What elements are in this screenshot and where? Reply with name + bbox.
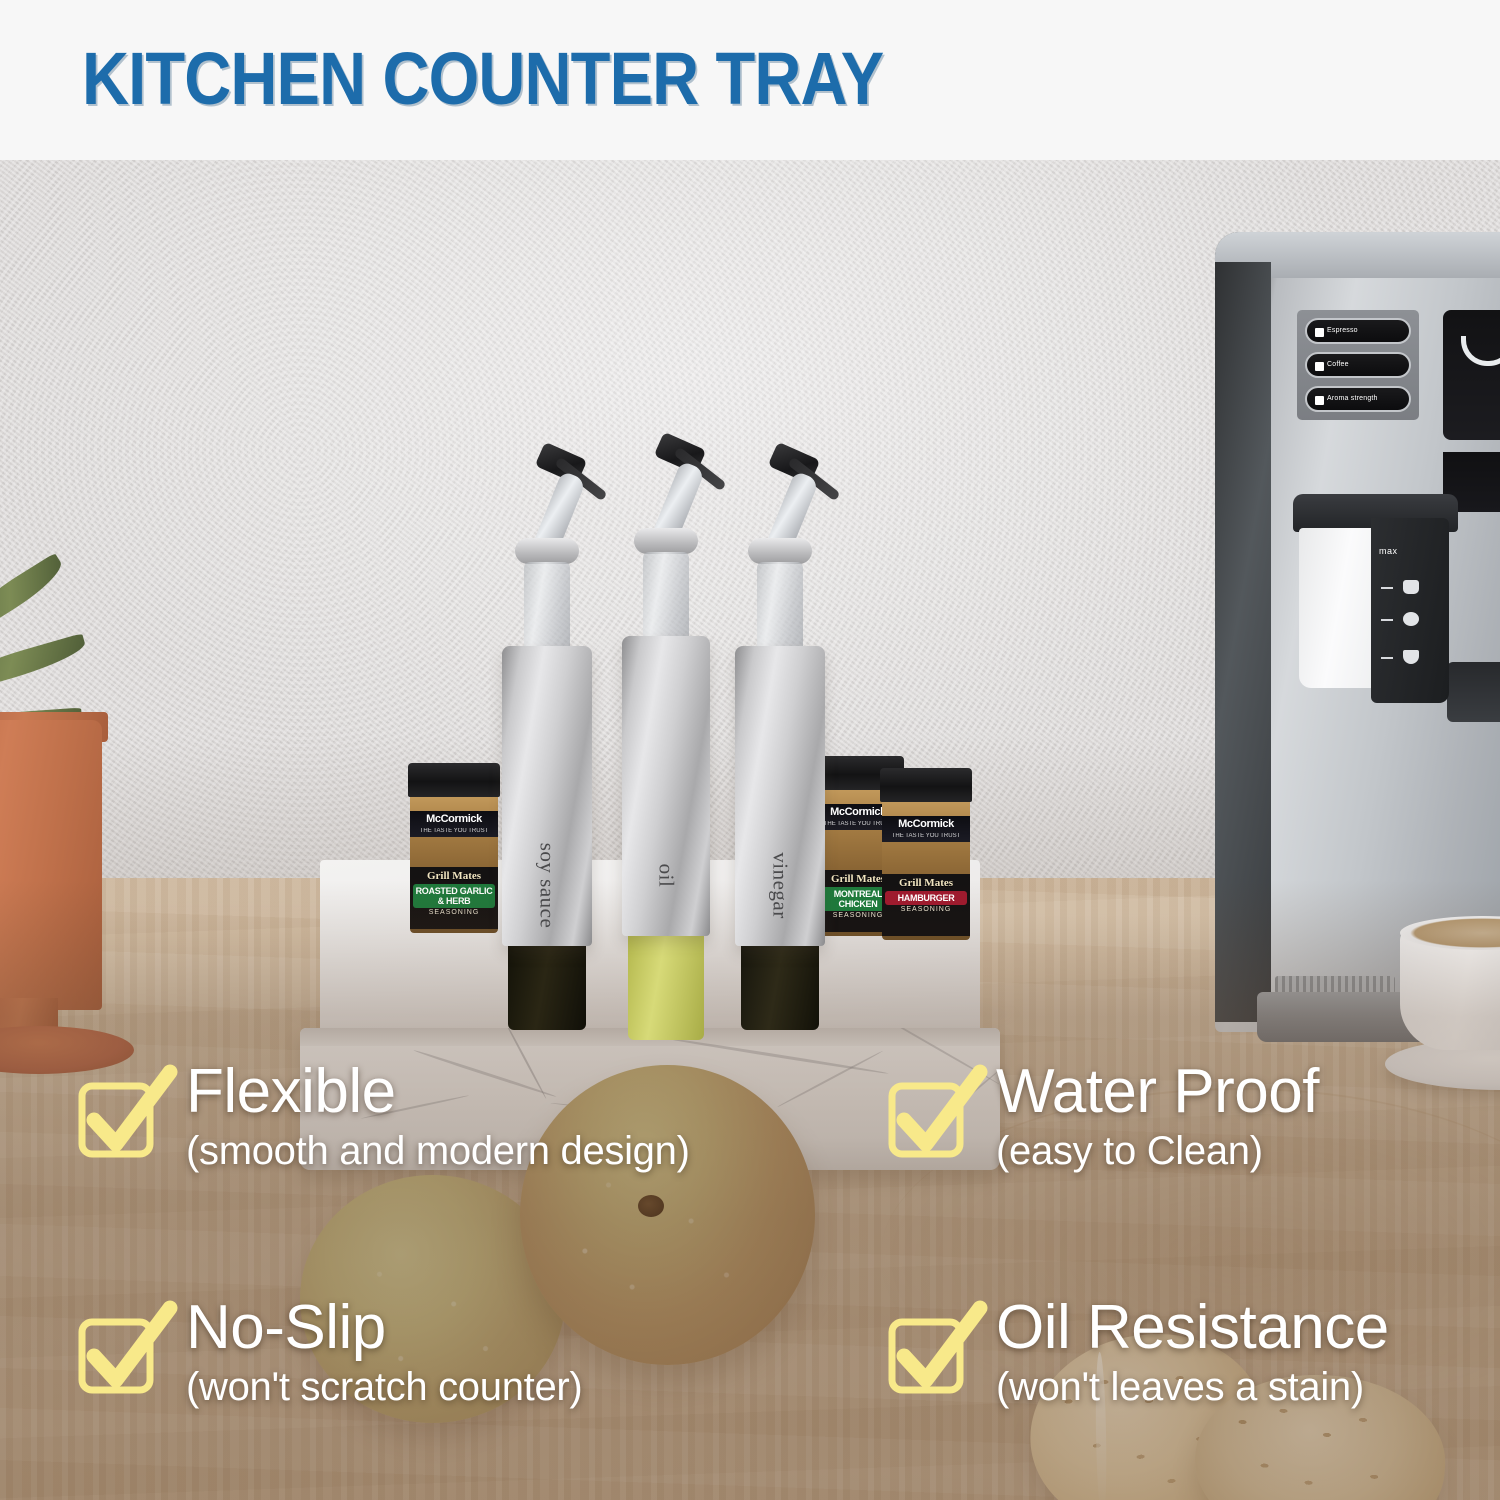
dash-icon xyxy=(1381,657,1393,659)
oil-bottle-oil: oil xyxy=(622,636,710,936)
feature-text: No-Slip (won't scratch counter) xyxy=(186,1296,582,1412)
jar-glass: McCormick THE TASTE YOU TRUST Grill Mate… xyxy=(882,800,970,940)
bottle-liquid xyxy=(628,934,704,1040)
machine-button-label: Aroma strength xyxy=(1327,395,1378,402)
feature-item-no-slip: No-Slip (won't scratch counter) xyxy=(78,1296,582,1412)
jar-flavor: HAMBURGER xyxy=(885,891,967,905)
machine-button-panel: Espresso Coffee Aroma strength xyxy=(1297,310,1419,420)
bottle-label: soy sauce xyxy=(535,843,560,929)
aroma-strength-icon xyxy=(1315,396,1324,405)
machine-display xyxy=(1443,310,1500,440)
machine-side-panel xyxy=(1215,262,1271,1022)
feature-subtitle: (smooth and modern design) xyxy=(186,1126,690,1176)
bottle-neck xyxy=(524,562,571,654)
feature-title: No-Slip xyxy=(186,1296,582,1360)
jar-brand-band: McCormick THE TASTE YOU TRUST xyxy=(882,816,970,842)
bottle-neck xyxy=(757,562,804,654)
checkbox-checked-icon xyxy=(78,1312,164,1398)
feature-item-water-proof: Water Proof (easy to Clean) xyxy=(888,1060,1319,1176)
bottle-collar xyxy=(748,538,813,564)
machine-button-label: Espresso xyxy=(1327,327,1358,334)
machine-button-coffee[interactable]: Coffee xyxy=(1305,352,1411,378)
jar-cap xyxy=(880,768,972,802)
spice-jar: McCormick THE TASTE YOU TRUST Grill Mate… xyxy=(880,768,972,940)
bottle-liquid xyxy=(508,946,586,1030)
dash-icon xyxy=(1381,587,1393,589)
milk-froth-icon xyxy=(1403,580,1419,594)
bottle-liquid xyxy=(741,946,819,1030)
carafe-icon-row xyxy=(1381,612,1443,628)
feature-text: Oil Resistance (won't leaves a stain) xyxy=(996,1296,1389,1412)
feature-title: Flexible xyxy=(186,1060,690,1124)
jar-tagline: THE TASTE YOU TRUST xyxy=(882,833,970,840)
jar-tagline: THE TASTE YOU TRUST xyxy=(410,828,498,835)
jar-brand: McCormick xyxy=(830,806,886,818)
feature-list: Flexible (smooth and modern design) Wate… xyxy=(0,1038,1500,1458)
machine-button-espresso[interactable]: Espresso xyxy=(1305,318,1411,344)
feature-item-flexible: Flexible (smooth and modern design) xyxy=(78,1060,690,1176)
bottle-label: oil xyxy=(654,864,679,888)
terracotta-plant-pot xyxy=(0,720,102,1010)
espresso-icon xyxy=(1315,328,1324,337)
checkbox-checked-icon xyxy=(78,1076,164,1162)
jar-line: Grill Mates xyxy=(882,874,970,890)
feature-text: Flexible (smooth and modern design) xyxy=(186,1060,690,1176)
product-infographic: KITCHEN COUNTER TRAY xyxy=(0,0,1500,1500)
jar-type: SEASONING xyxy=(882,905,970,914)
jar-brand: McCormick xyxy=(898,818,954,830)
bottle-neck xyxy=(643,552,689,644)
bottle-label: vinegar xyxy=(768,852,793,918)
checkbox-checked-icon xyxy=(888,1312,974,1398)
feature-text: Water Proof (easy to Clean) xyxy=(996,1060,1319,1176)
milk-carafe-panel: max xyxy=(1371,518,1449,703)
carafe-icon-row xyxy=(1381,580,1443,596)
bottle-body xyxy=(622,636,710,936)
carafe-max-label: max xyxy=(1379,546,1398,556)
feature-item-oil-resistance: Oil Resistance (won't leaves a stain) xyxy=(888,1296,1389,1412)
feature-subtitle: (won't leaves a stain) xyxy=(996,1362,1389,1412)
bottle-collar xyxy=(634,528,697,554)
feature-subtitle: (easy to Clean) xyxy=(996,1126,1319,1176)
oil-bottle-soy-sauce: soy sauce xyxy=(502,646,592,946)
header-band: KITCHEN COUNTER TRAY xyxy=(0,0,1500,160)
cup-icon xyxy=(1461,336,1500,366)
jar-brand-band: McCormick THE TASTE YOU TRUST xyxy=(410,811,498,837)
oil-bottle-vinegar: vinegar xyxy=(735,646,825,946)
milk-icon xyxy=(1403,612,1419,626)
dash-icon xyxy=(1381,619,1393,621)
bottle-collar xyxy=(515,538,580,564)
machine-button-aroma-strength[interactable]: Aroma strength xyxy=(1305,386,1411,412)
jar-brand: McCormick xyxy=(426,813,482,825)
machine-button-label: Coffee xyxy=(1327,361,1349,368)
jar-cap xyxy=(408,763,500,797)
jar-label: Grill Mates HAMBURGER SEASONING xyxy=(882,874,970,936)
feature-subtitle: (won't scratch counter) xyxy=(186,1362,582,1412)
page-title: KITCHEN COUNTER TRAY xyxy=(82,36,883,122)
coffee-icon xyxy=(1315,362,1324,371)
carafe-icon-row xyxy=(1381,650,1443,666)
checkbox-checked-icon xyxy=(888,1076,974,1162)
cup-small-icon xyxy=(1403,650,1419,664)
machine-spout xyxy=(1447,662,1500,722)
feature-title: Water Proof xyxy=(996,1060,1319,1124)
feature-title: Oil Resistance xyxy=(996,1296,1389,1360)
